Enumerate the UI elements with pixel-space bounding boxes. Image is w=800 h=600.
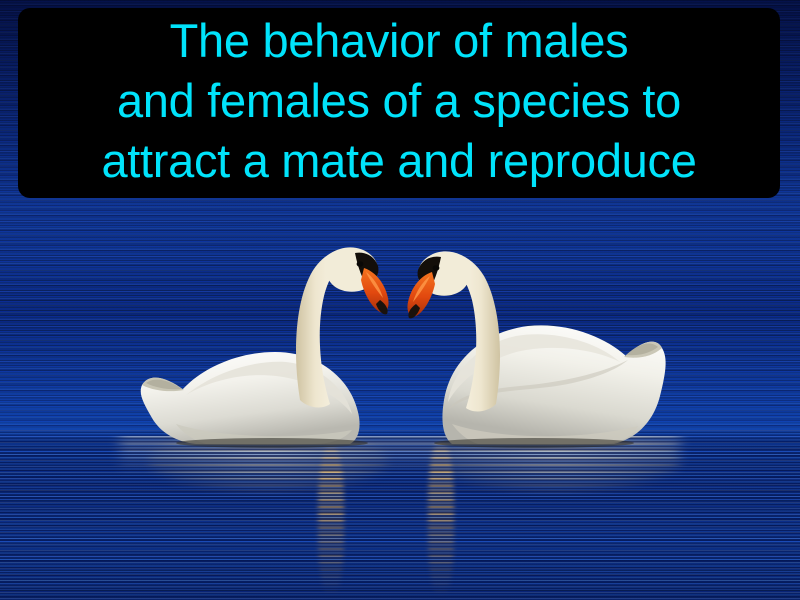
left-swan-eye	[357, 261, 364, 267]
right-swan-eye	[433, 265, 440, 271]
right-swan	[407, 251, 665, 444]
definition-line-3: attract a mate and reproduce	[101, 131, 696, 191]
left-swan-waterline-shadow	[176, 438, 368, 448]
definition-line-1: The behavior of males	[170, 11, 629, 71]
definition-card-image: The behavior of males and females of a s…	[0, 0, 800, 600]
left-swan	[141, 247, 389, 444]
definition-line-2: and females of a species to	[117, 71, 681, 131]
right-swan-waterline-shadow	[434, 438, 634, 448]
definition-text-card: The behavior of males and females of a s…	[18, 8, 780, 198]
